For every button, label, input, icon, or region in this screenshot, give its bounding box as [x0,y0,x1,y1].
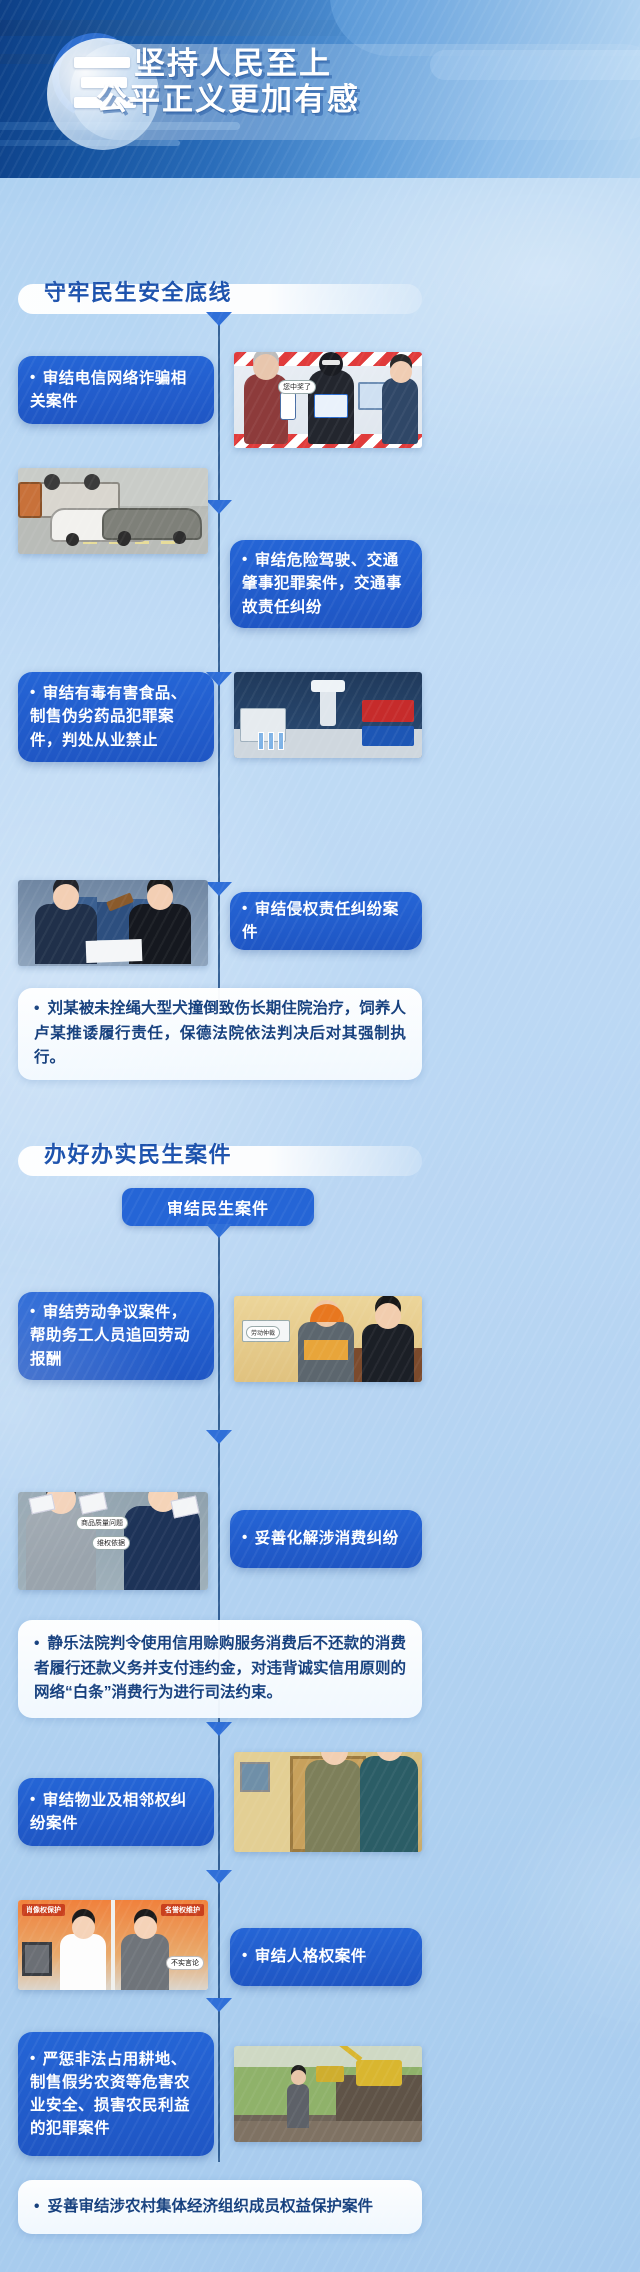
item-card-consumer-dispute[interactable]: 妥善化解涉消费纠纷 [230,1510,422,1568]
page-title: 坚持人民至上 公平正义更加有感 [134,46,360,118]
page-header: 坚持人民至上 公平正义更加有感 [0,0,640,178]
drug-safety-sign [362,726,414,746]
case-note-text: 刘某被未拴绳大型犬撞倒致伤长期住院治疗，饲养人卢某推诿履行责任，保德法院依法判决… [18,985,422,1083]
item-card-text: 严惩非法占用耕地、制售假劣农资等危害农业安全、损害农民利益的犯罪案件 [18,2038,214,2151]
telecom-fraud-illustration: 您中奖了 [234,352,422,448]
labor-arbitration-illustration: 劳动仲裁 [234,1296,422,1382]
traffic-accident-illustration [18,468,208,554]
speech-bubble-label: 商品质量问题 [76,1516,128,1530]
item-card-farmland-crimes[interactable]: 严惩非法占用耕地、制售假劣农资等危害农业安全、损害农民利益的犯罪案件 [18,2032,214,2156]
item-card-personality-rights[interactable]: 审结人格权案件 [230,1928,422,1986]
case-note-liu: 刘某被未拴绳大型犬撞倒致伤长期住院治疗，饲养人卢某推诿履行责任，保德法院依法判决… [18,988,422,1080]
window-icon [240,1762,270,1792]
section-2-heading-label: 办好办实民生案件 [44,1137,232,1169]
connector-arrow-icon [206,312,232,326]
official-figure [362,1324,414,1382]
speech-bubble-label: 维权依据 [92,1536,130,1550]
farmer-figure [287,2084,309,2128]
item-card-tort-liability[interactable]: 审结侵权责任纠纷案件 [230,892,422,950]
section-1-heading-label: 守牢民生安全底线 [44,275,232,307]
personality-rights-illustration: 肖像权保护 名誉权维护 不实言论 [18,1900,208,1990]
phone-icon [280,392,296,420]
page-title-line2: 公平正义更加有感 [96,82,360,118]
connector-arrow-icon [206,1430,232,1444]
connector-arrow-icon [206,1722,232,1736]
speech-bubble-label: 不实言论 [166,1956,204,1970]
excavator-icon [316,2066,344,2082]
page-title-line1: 坚持人民至上 [134,46,360,82]
field-path [234,2121,422,2142]
neighbor-figure-b [360,1756,418,1852]
item-card-food-drug[interactable]: 审结有毒有害食品、制售伪劣药品犯罪案件，判处从业禁止 [18,672,214,762]
connector-arrow-icon [206,1998,232,2012]
infographic-page: 坚持人民至上 公平正义更加有感 守牢民生安全底线 审结电信网络诈骗相关案件 您中… [0,0,640,2272]
truck-cab [18,482,42,518]
floating-document [78,1492,107,1515]
neighbor-dispute-illustration [234,1752,422,1852]
item-card-dangerous-driving[interactable]: 审结危险驾驶、交通肇事犯罪案件，交通事故责任纠纷 [230,540,422,628]
excavator-icon [356,2060,402,2086]
courtroom-illustration [18,880,208,966]
item-card-text: 妥善化解涉消费纠纷 [230,1517,413,1560]
food-drug-inspection-illustration [234,672,422,758]
section-1-heading: 守牢民生安全底线 [18,284,422,314]
item-card-text: 审结危险驾驶、交通肇事犯罪案件，交通事故责任纠纷 [230,539,422,629]
portrait-rights-tag: 肖像权保护 [22,1904,65,1916]
item-card-text: 审结有毒有害食品、制售伪劣药品犯罪案件，判处从业禁止 [18,672,214,762]
reputation-rights-tag: 名誉权维护 [161,1904,204,1916]
tablet-icon [314,394,348,418]
connector-line [218,314,220,1014]
item-card-text: 审结人格权案件 [230,1935,381,1978]
speech-bubble-label: 您中奖了 [278,380,316,394]
case-note-jingle: 静乐法院判令使用信用赊购服务消费后不还款的消费者履行还款义务并支付违约金，对违背… [18,1620,422,1718]
case-note-text: 静乐法院判令使用信用赊购服务消费后不还款的消费者履行还款义务并支付违约金，对违背… [18,1620,422,1718]
woman-figure [60,1934,106,1990]
item-card-text: 审结劳动争议案件，帮助务工人员追回劳动报酬 [18,1291,214,1381]
case-note-text: 妥善审结涉农村集体经济组织成员权益保护案件 [18,2183,389,2232]
connector-arrow-icon [206,1870,232,1884]
connector-arrow-icon [206,1224,232,1238]
person-figure [382,378,418,444]
connector-arrow-icon [206,882,232,896]
consumer-dispute-illustration: 商品质量问题 维权依据 [18,1492,208,1590]
case-note-rural-collective: 妥善审结涉农村集体经济组织成员权益保护案件 [18,2180,422,2234]
merchant-figure [124,1506,200,1590]
sign-label: 劳动仲裁 [246,1326,280,1339]
food-safety-sign [362,700,414,722]
grey-car [102,508,202,540]
item-card-text: 审结物业及相邻权纠纷案件 [18,1779,214,1846]
connector-arrow-icon [206,500,232,514]
header-streak [0,20,380,36]
safety-vest [304,1340,348,1360]
section-2-heading: 办好办实民生案件 [18,1146,422,1176]
farmland-illustration [234,2046,422,2142]
section-2-badge[interactable]: 审结民生案件 [122,1188,314,1226]
document-paper [86,939,143,963]
neighbor-figure-a [305,1760,361,1852]
item-card-text: 审结侵权责任纠纷案件 [230,888,422,955]
item-card-text: 审结电信网络诈骗相关案件 [18,357,214,424]
portrait-frame [22,1942,52,1976]
man-figure [121,1934,169,1990]
microscope-icon [320,680,336,726]
item-card-labor-dispute[interactable]: 审结劳动争议案件，帮助务工人员追回劳动报酬 [18,1292,214,1380]
item-card-telecom-fraud[interactable]: 审结电信网络诈骗相关案件 [18,356,214,424]
item-card-property-neighbor[interactable]: 审结物业及相邻权纠纷案件 [18,1778,214,1846]
